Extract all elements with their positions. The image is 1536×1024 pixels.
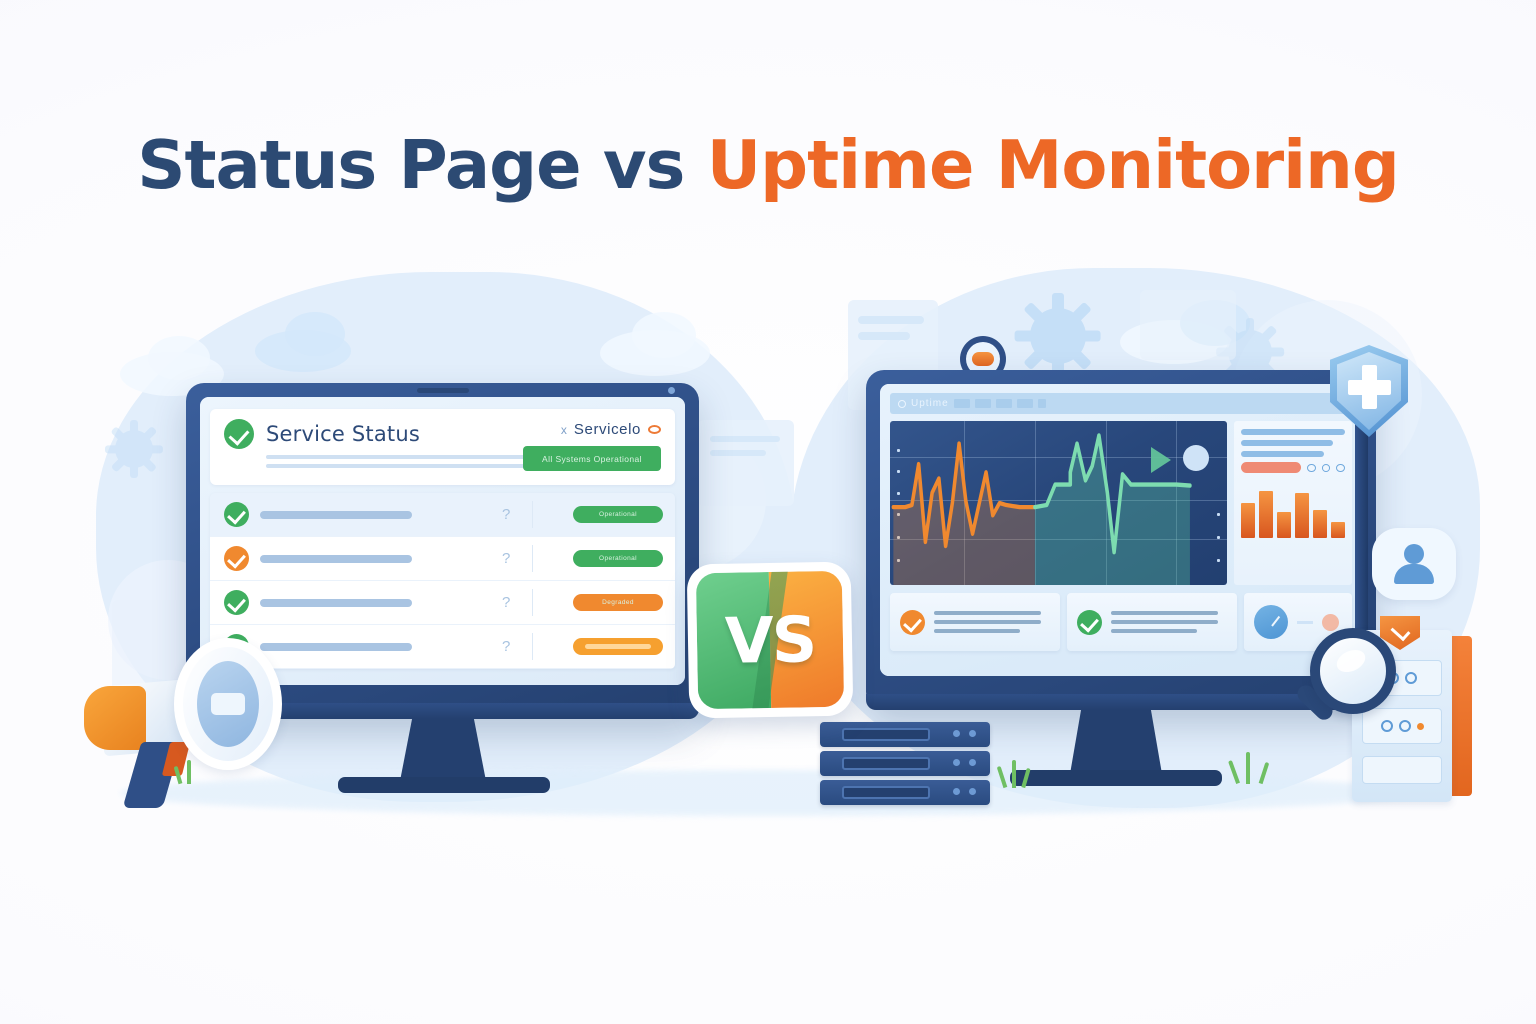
background-line <box>710 450 766 456</box>
vs-badge: VS <box>688 563 852 717</box>
brand-lockup: x Servicelo <box>561 421 661 438</box>
status-dot-icon <box>898 400 906 408</box>
cloud-shape <box>285 312 345 356</box>
page-title-primary: Status Page vs <box>137 126 707 204</box>
dashboard-side-panel <box>1234 421 1352 585</box>
status-badge: Degraded <box>573 594 663 611</box>
grass-decor <box>1232 752 1302 784</box>
table-row[interactable]: ? Degraded <box>210 581 675 625</box>
check-circle-icon <box>224 502 249 527</box>
background-line <box>858 332 910 340</box>
metric-card[interactable] <box>890 593 1060 651</box>
background-panel <box>698 420 794 506</box>
status-badge: Operational <box>573 506 663 523</box>
chart-area <box>890 421 1352 585</box>
page-title: Status Page vs Uptime Monitoring <box>0 126 1536 204</box>
background-panel <box>1140 290 1236 360</box>
table-row[interactable]: ? Operational <box>210 493 675 537</box>
dashboard-toolbar[interactable]: Uptime <box>890 393 1352 414</box>
monitor-screen: Uptime <box>880 384 1362 676</box>
metric-card-row <box>890 593 1352 651</box>
cloud-shape <box>632 312 696 358</box>
megaphone-icon <box>62 630 332 820</box>
background-line <box>858 316 924 324</box>
background-line <box>710 436 780 442</box>
status-badge <box>573 638 663 655</box>
row-meta: ? <box>502 638 510 655</box>
gear-icon <box>1030 308 1086 364</box>
check-circle-icon <box>224 590 249 615</box>
gear-icon <box>115 430 153 468</box>
row-meta: ? <box>502 506 510 523</box>
webcam-bar <box>417 388 469 393</box>
alert-pill <box>1241 462 1301 473</box>
gauge-icon <box>1254 605 1288 639</box>
monitor-neck <box>400 719 486 781</box>
toggle-icon[interactable] <box>1322 464 1331 472</box>
all-systems-operational-button[interactable]: All Systems Operational <box>523 446 661 471</box>
check-circle-icon <box>224 546 249 571</box>
vs-label: VS <box>687 562 854 719</box>
grass-decor <box>176 760 228 784</box>
uptime-line-chart[interactable] <box>890 421 1227 585</box>
check-circle-icon <box>1077 610 1102 635</box>
check-circle-icon <box>900 610 925 635</box>
table-row[interactable]: ? Operational <box>210 537 675 581</box>
monitoring-dashboard: Uptime <box>880 384 1362 676</box>
shield-cross-icon <box>1330 345 1408 437</box>
illustration-canvas: Status Page vs Uptime Monitoring <box>0 0 1536 1024</box>
power-led <box>668 387 675 394</box>
server-stack-icon <box>820 722 1000 806</box>
check-circle-icon <box>224 419 254 449</box>
cloud-shape <box>148 336 210 380</box>
row-meta: ? <box>502 550 510 567</box>
brand-name-label: Servicelo <box>574 421 641 438</box>
status-badge: Operational <box>573 550 663 567</box>
toggle-icon[interactable] <box>1336 464 1345 472</box>
monitor-neck <box>1070 710 1162 774</box>
toolbar-label: Uptime <box>911 398 949 409</box>
endpoint-marker-icon <box>1183 445 1209 471</box>
monitor-base <box>338 777 550 793</box>
brand-x-label: x <box>561 423 567 437</box>
magnifying-glass-icon <box>1296 628 1408 740</box>
status-header-card: Service Status x Servicelo All Systems O… <box>210 409 675 485</box>
grass-decor <box>1000 760 1060 788</box>
metric-card[interactable] <box>1067 593 1237 651</box>
brand-mark-icon <box>648 425 661 434</box>
user-avatar-icon <box>1372 528 1456 600</box>
play-marker-icon <box>1151 447 1171 473</box>
row-meta: ? <box>502 594 510 611</box>
toggle-icon[interactable] <box>1307 464 1316 472</box>
page-title-accent: Uptime Monitoring <box>707 126 1399 204</box>
side-bar-chart <box>1241 482 1345 538</box>
